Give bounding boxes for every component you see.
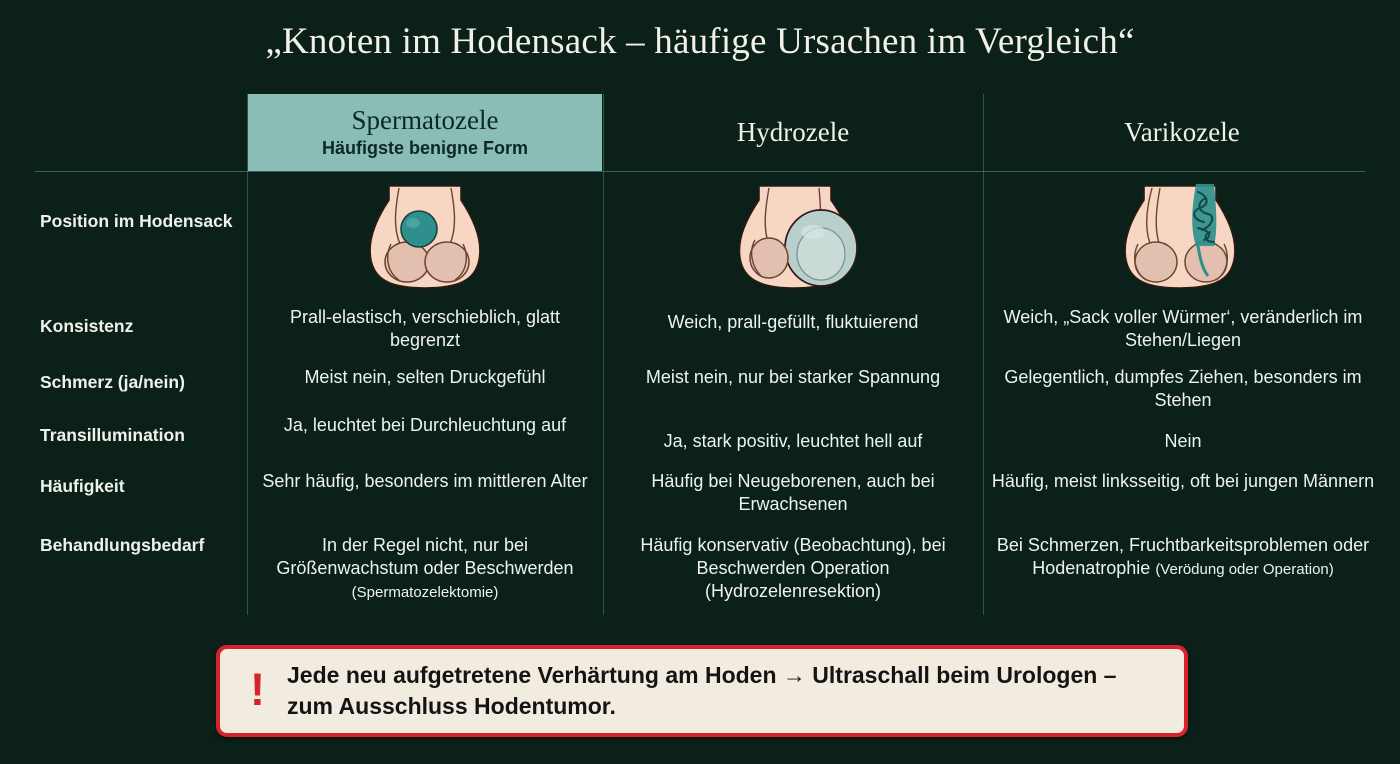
cell-varikozele-haeufigkeit: Häufig, meist linksseitig, oft bei junge… <box>990 470 1376 493</box>
column-title: Spermatozele <box>352 106 499 135</box>
column-title: Hydrozele <box>737 118 849 147</box>
column-header-spermatozele[interactable]: Spermatozele Häufigste benigne Form <box>248 94 602 171</box>
row-label-behandlungsbedarf: Behandlungsbedarf <box>40 535 255 557</box>
cell-spermatozele-transillumination: Ja, leuchtet bei Durchleuchtung auf <box>254 414 596 437</box>
cell-hydrozele-haeufigkeit: Häufig bei Neugeborenen, auch bei Erwach… <box>610 470 976 516</box>
cell-spermatozele-schmerz: Meist nein, selten Druckgefühl <box>254 366 596 389</box>
column-header-hydrozele[interactable]: Hydrozele <box>604 94 982 171</box>
cell-spermatozele-konsistenz: Prall-elastisch, verschieblich, glatt be… <box>254 306 596 352</box>
cell-hydrozele-schmerz: Meist nein, nur bei starker Spannung <box>610 366 976 389</box>
column-header-varikozele[interactable]: Varikozele <box>984 94 1380 171</box>
cell-spermatozele-haeufigkeit: Sehr häufig, besonders im mittleren Alte… <box>254 470 596 493</box>
infographic-canvas: „Knoten im Hodensack – häufige Ursachen … <box>0 0 1400 764</box>
column-title: Varikozele <box>1124 118 1239 147</box>
row-label-konsistenz: Konsistenz <box>40 316 255 338</box>
varicocele-diagram <box>1110 184 1250 290</box>
row-label-schmerz: Schmerz (ja/nein) <box>40 372 255 394</box>
cell-text-annotation: (Spermatozelektomie) <box>352 584 499 601</box>
column-divider-3 <box>983 94 984 615</box>
warning-text: Jede neu aufgetretene Verhärtung am Hode… <box>287 660 1184 721</box>
header-divider <box>35 171 1365 172</box>
cell-spermatozele-behandlungsbedarf: In der Regel nicht, nur bei Größenwachst… <box>250 534 600 603</box>
column-subtitle: Häufigste benigne Form <box>322 137 528 160</box>
exclamation-mark-icon: ! <box>250 667 265 712</box>
page-title: „Knoten im Hodensack – häufige Ursachen … <box>0 20 1400 63</box>
cell-text-annotation: (Verödung oder Operation) <box>1155 561 1333 578</box>
cell-text: In der Regel nicht, nur bei Größenwachst… <box>276 535 573 578</box>
row-label-transillumination: Transillumination <box>40 425 255 447</box>
column-divider-2 <box>603 94 604 615</box>
row-label-position: Position im Hodensack <box>40 211 255 233</box>
cell-varikozele-transillumination: Nein <box>990 430 1376 453</box>
hydrocele-diagram <box>725 184 865 290</box>
cell-varikozele-schmerz: Gelegentlich, dumpfes Ziehen, besonders … <box>990 366 1376 412</box>
cell-hydrozele-konsistenz: Weich, prall-gefüllt, fluktuierend <box>610 311 976 334</box>
row-label-haeufigkeit: Häufigkeit <box>40 476 255 498</box>
cell-hydrozele-behandlungsbedarf: Häufig konservativ (Beobachtung), bei Be… <box>608 534 978 603</box>
cell-varikozele-konsistenz: Weich, „Sack voller Würmer‘, veränderlic… <box>990 306 1376 352</box>
warning-banner: ! Jede neu aufgetretene Verhärtung am Ho… <box>216 645 1188 737</box>
cell-hydrozele-transillumination: Ja, stark positiv, leuchtet hell auf <box>610 430 976 453</box>
spermatocele-diagram <box>355 184 495 290</box>
cell-varikozele-behandlungsbedarf: Bei Schmerzen, Fruchtbarkeitsproblemen o… <box>986 534 1380 580</box>
